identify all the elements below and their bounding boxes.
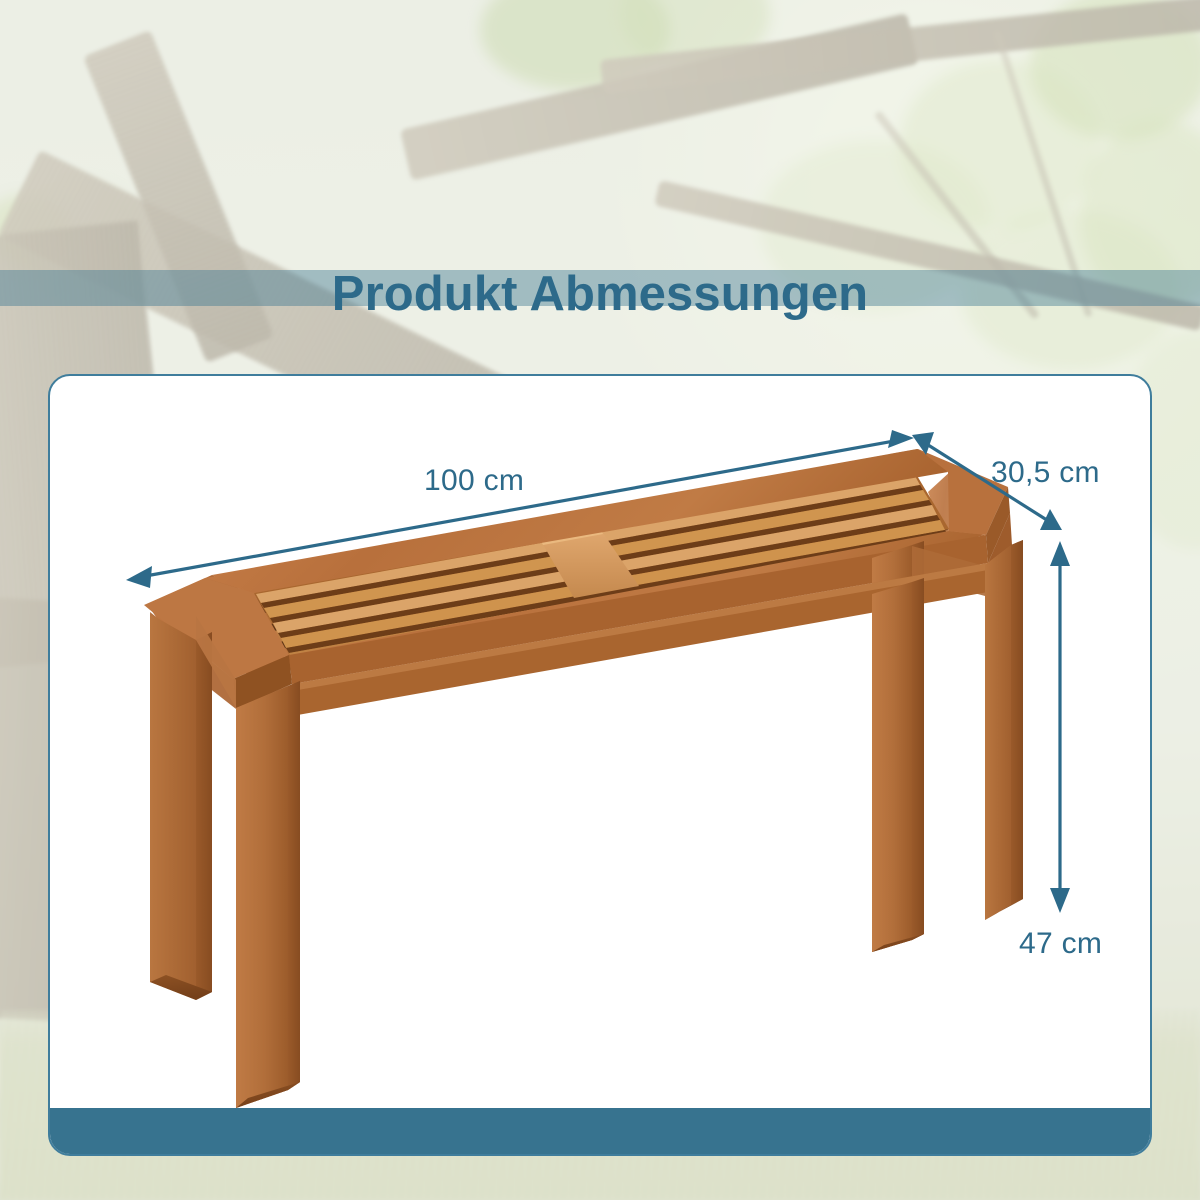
page-title: Produkt Abmessungen: [0, 258, 1200, 330]
height-dimension-label: 47 cm: [1019, 927, 1102, 961]
infographic-root: Produkt Abmessungen: [0, 0, 1200, 1200]
card-bottom-bar: [50, 1108, 1150, 1154]
product-dimension-card: [48, 374, 1152, 1156]
length-dimension-label: 100 cm: [424, 464, 524, 498]
depth-dimension-label: 30,5 cm: [991, 456, 1100, 490]
